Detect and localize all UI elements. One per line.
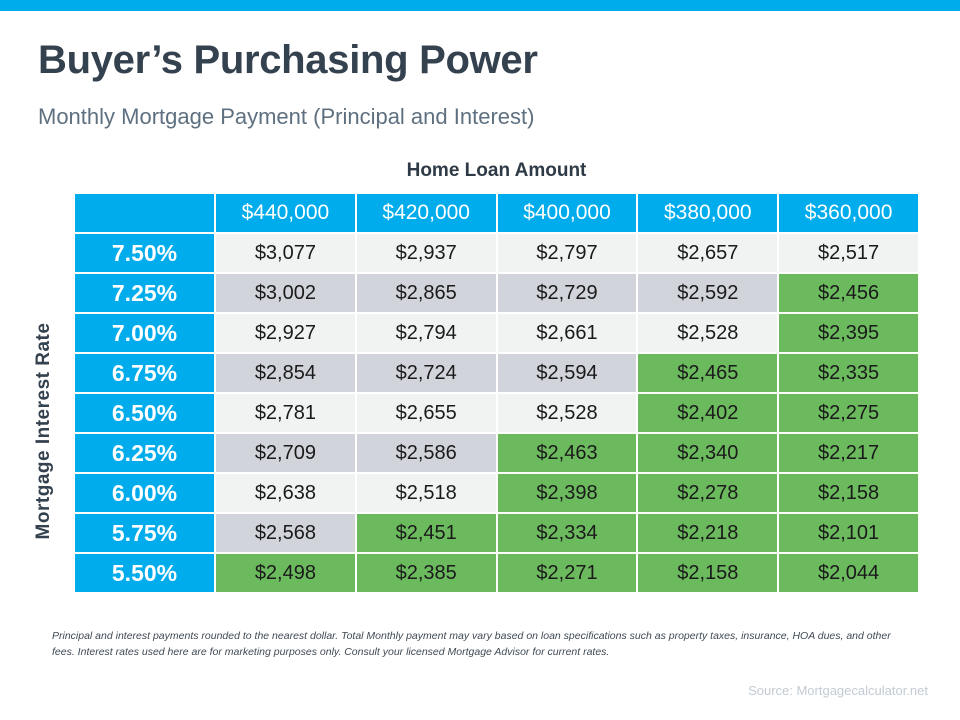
purchasing-power-table: $440,000 $420,000 $400,000 $380,000 $360… [73, 192, 920, 594]
table-body: 7.50%$3,077$2,937$2,797$2,657$2,5177.25%… [75, 234, 918, 592]
column-header-1: $420,000 [357, 194, 496, 232]
row-axis-title: Mortgage Interest Rate [33, 281, 55, 581]
table-header: $440,000 $420,000 $400,000 $380,000 $360… [75, 194, 918, 232]
table-cell: $2,854 [216, 354, 355, 392]
table-row: 6.50%$2,781$2,655$2,528$2,402$2,275 [75, 394, 918, 432]
table-cell-highlighted: $2,335 [779, 354, 918, 392]
table-cell-highlighted: $2,398 [498, 474, 637, 512]
column-header-4: $360,000 [779, 194, 918, 232]
table-cell-highlighted: $2,451 [357, 514, 496, 552]
table-cell: $2,528 [498, 394, 637, 432]
table-cell: $2,592 [638, 274, 777, 312]
table-cell: $2,568 [216, 514, 355, 552]
column-header-2: $400,000 [498, 194, 637, 232]
table-cell: $2,518 [357, 474, 496, 512]
table-cell-highlighted: $2,334 [498, 514, 637, 552]
row-header-rate: 6.50% [75, 394, 214, 432]
table-cell: $2,661 [498, 314, 637, 352]
table-cell: $2,937 [357, 234, 496, 272]
table-cell-highlighted: $2,044 [779, 554, 918, 592]
table-row: 5.75%$2,568$2,451$2,334$2,218$2,101 [75, 514, 918, 552]
table-cell-highlighted: $2,271 [498, 554, 637, 592]
column-header-0: $440,000 [216, 194, 355, 232]
table-cell-highlighted: $2,278 [638, 474, 777, 512]
table-row: 5.50%$2,498$2,385$2,271$2,158$2,044 [75, 554, 918, 592]
table-cell: $2,797 [498, 234, 637, 272]
table-cell: $2,709 [216, 434, 355, 472]
table-cell: $2,781 [216, 394, 355, 432]
table-cell-highlighted: $2,158 [779, 474, 918, 512]
row-header-rate: 7.50% [75, 234, 214, 272]
table-cell: $2,517 [779, 234, 918, 272]
table-cell: $2,794 [357, 314, 496, 352]
disclaimer-footnote: Principal and interest payments rounded … [52, 628, 914, 661]
source-note: Source: Mortgagecalculator.net [0, 683, 928, 698]
table-cell: $3,002 [216, 274, 355, 312]
table-corner-cell [75, 194, 214, 232]
table-cell-highlighted: $2,217 [779, 434, 918, 472]
table-cell: $2,655 [357, 394, 496, 432]
row-header-rate: 5.50% [75, 554, 214, 592]
table-cell: $2,927 [216, 314, 355, 352]
table-cell: $2,729 [498, 274, 637, 312]
row-header-rate: 6.25% [75, 434, 214, 472]
table-row: 7.25%$3,002$2,865$2,729$2,592$2,456 [75, 274, 918, 312]
table-row: 6.25%$2,709$2,586$2,463$2,340$2,217 [75, 434, 918, 472]
table-row: 6.75%$2,854$2,724$2,594$2,465$2,335 [75, 354, 918, 392]
row-header-rate: 5.75% [75, 514, 214, 552]
table-cell-highlighted: $2,275 [779, 394, 918, 432]
table-cell: $2,594 [498, 354, 637, 392]
table-cell-highlighted: $2,101 [779, 514, 918, 552]
column-header-3: $380,000 [638, 194, 777, 232]
table-cell-highlighted: $2,456 [779, 274, 918, 312]
table-cell: $3,077 [216, 234, 355, 272]
column-axis-title: Home Loan Amount [73, 160, 920, 182]
page-title: Buyer’s Purchasing Power [38, 38, 538, 83]
table-cell: $2,865 [357, 274, 496, 312]
table-cell-highlighted: $2,218 [638, 514, 777, 552]
top-accent-bar [0, 0, 960, 11]
table-cell-highlighted: $2,395 [779, 314, 918, 352]
table-cell-highlighted: $2,340 [638, 434, 777, 472]
table-cell: $2,638 [216, 474, 355, 512]
table-cell-highlighted: $2,498 [216, 554, 355, 592]
table-cell-highlighted: $2,385 [357, 554, 496, 592]
table-cell: $2,586 [357, 434, 496, 472]
page-subtitle: Monthly Mortgage Payment (Principal and … [38, 104, 534, 130]
table-cell: $2,528 [638, 314, 777, 352]
table-cell: $2,657 [638, 234, 777, 272]
table-row: 7.00%$2,927$2,794$2,661$2,528$2,395 [75, 314, 918, 352]
table-cell-highlighted: $2,465 [638, 354, 777, 392]
table-cell-highlighted: $2,158 [638, 554, 777, 592]
table-row: 7.50%$3,077$2,937$2,797$2,657$2,517 [75, 234, 918, 272]
table-cell-highlighted: $2,463 [498, 434, 637, 472]
table-cell: $2,724 [357, 354, 496, 392]
table-header-row: $440,000 $420,000 $400,000 $380,000 $360… [75, 194, 918, 232]
row-header-rate: 7.00% [75, 314, 214, 352]
row-header-rate: 6.75% [75, 354, 214, 392]
table-row: 6.00%$2,638$2,518$2,398$2,278$2,158 [75, 474, 918, 512]
row-header-rate: 7.25% [75, 274, 214, 312]
row-header-rate: 6.00% [75, 474, 214, 512]
table-cell-highlighted: $2,402 [638, 394, 777, 432]
